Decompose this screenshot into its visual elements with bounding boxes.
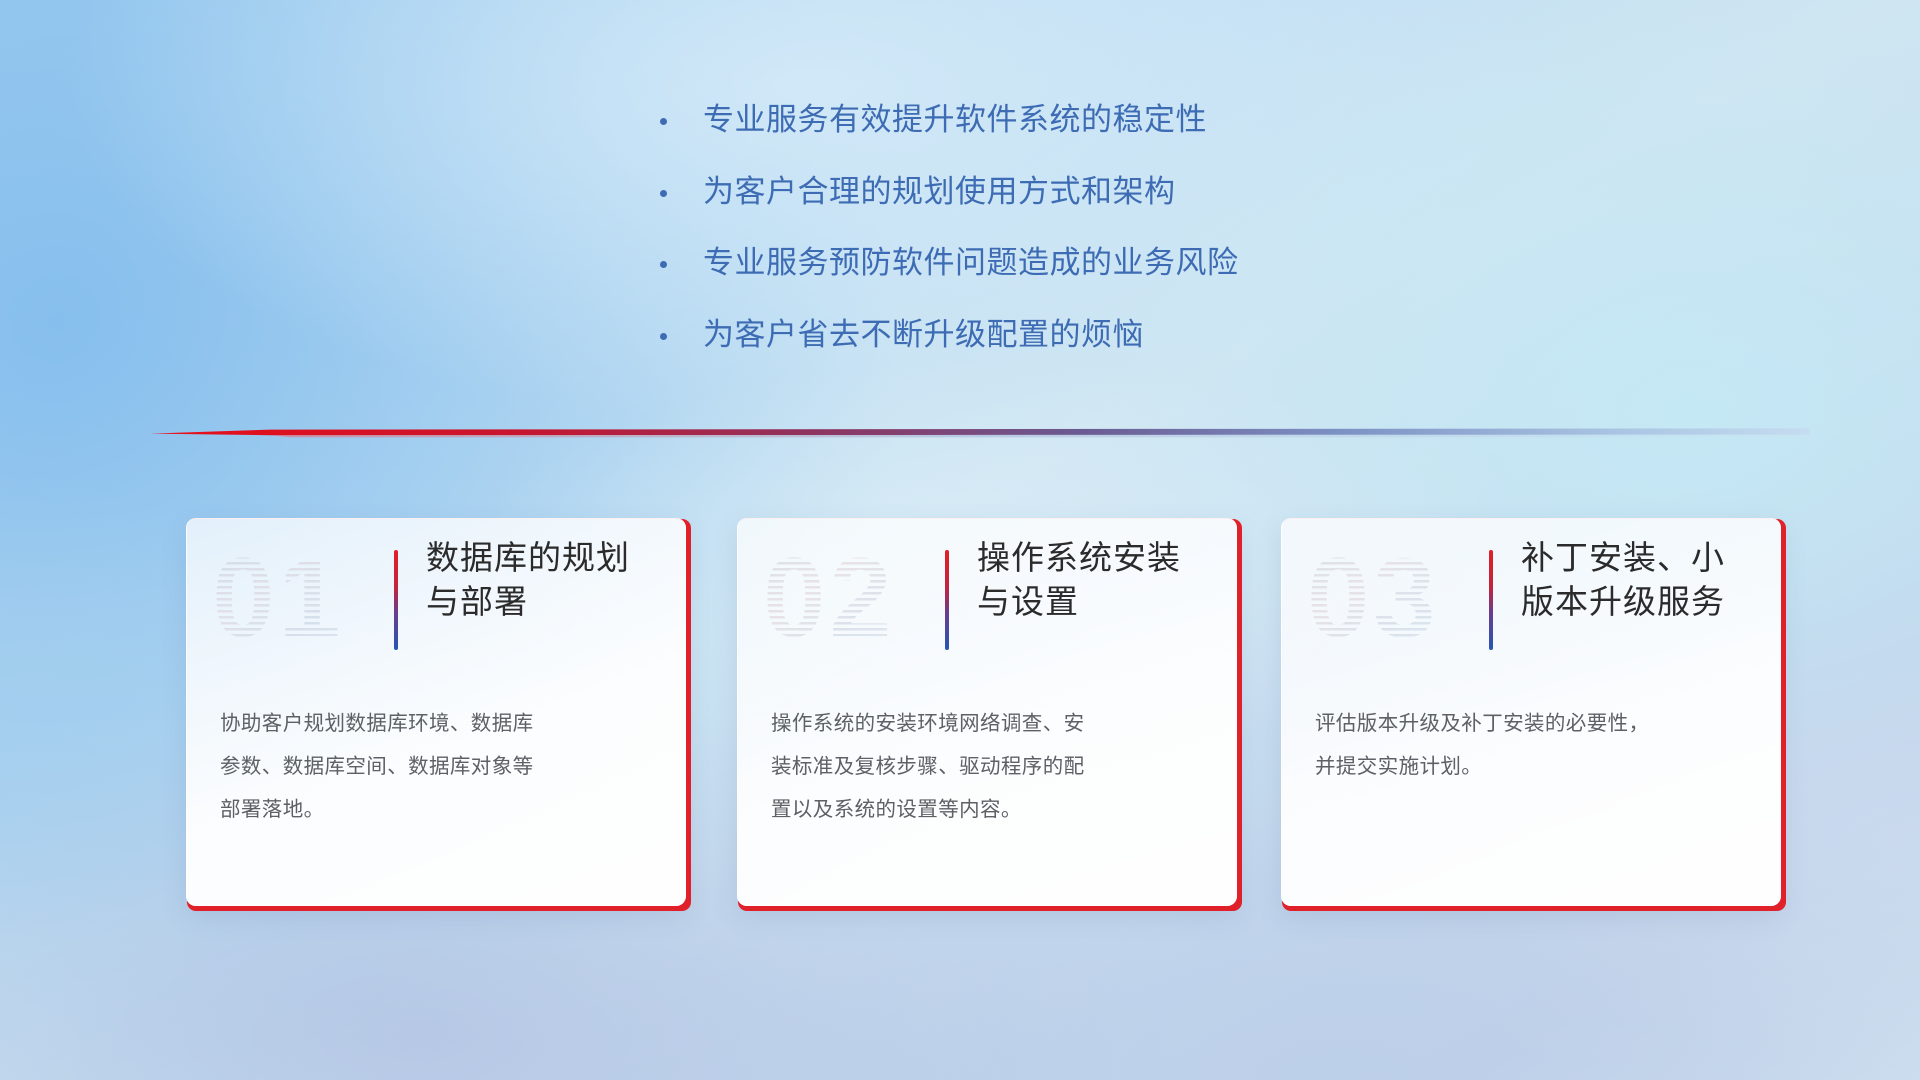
card-title-line-1: 补丁安装、小 xyxy=(1521,536,1757,580)
card-description-line-1: 协助客户规划数据库环境、数据库 xyxy=(220,702,658,745)
card-accent-rule xyxy=(394,550,398,650)
section-divider xyxy=(150,420,1810,446)
list-item: 专业服务有效提升软件系统的稳定性 xyxy=(660,100,1520,140)
service-card[interactable]: 03 补丁安装、小 版本升级服务 xyxy=(1281,518,1781,906)
card-title-line-2: 与设置 xyxy=(977,580,1213,624)
card-number-watermark: 01 xyxy=(210,544,370,656)
card-title: 操作系统安装 与设置 xyxy=(977,536,1213,623)
list-item: 为客户合理的规划使用方式和架构 xyxy=(660,172,1520,212)
bullet-dot-icon xyxy=(660,118,667,125)
service-card[interactable]: 01 数据库的规划 与部署 xyxy=(186,518,686,906)
card-title-line-2: 与部署 xyxy=(426,580,662,624)
card-header: 02 操作系统安装 与设置 xyxy=(737,518,1237,678)
card-accent-rule xyxy=(1489,550,1493,650)
card-description-line-2: 参数、数据库空间、数据库对象等 xyxy=(220,745,658,788)
card-description: 协助客户规划数据库环境、数据库 参数、数据库空间、数据库对象等 部署落地。 xyxy=(220,702,658,831)
bullet-text: 为客户省去不断升级配置的烦恼 xyxy=(703,315,1144,355)
bullet-dot-icon xyxy=(660,333,667,340)
card-title-line-1: 操作系统安装 xyxy=(977,536,1213,580)
card-header: 01 数据库的规划 与部署 xyxy=(186,518,686,678)
list-item: 专业服务预防软件问题造成的业务风险 xyxy=(660,243,1520,283)
bullet-text: 专业服务预防软件问题造成的业务风险 xyxy=(703,243,1239,283)
card-header: 03 补丁安装、小 版本升级服务 xyxy=(1281,518,1781,678)
service-card[interactable]: 02 操作系统安装 与设置 xyxy=(737,518,1237,906)
card-description-line-3: 置以及系统的设置等内容。 xyxy=(771,788,1209,831)
card-description: 评估版本升级及补丁安装的必要性， 并提交实施计划。 xyxy=(1315,702,1753,788)
bullet-text: 为客户合理的规划使用方式和架构 xyxy=(703,172,1176,212)
card-description-line-3: 部署落地。 xyxy=(220,788,658,831)
card-description-line-2: 装标准及复核步骤、驱动程序的配 xyxy=(771,745,1209,788)
card-number-watermark: 02 xyxy=(761,544,921,656)
card-title-line-2: 版本升级服务 xyxy=(1521,580,1757,624)
bullet-dot-icon xyxy=(660,261,667,268)
card-description: 操作系统的安装环境网络调查、安 装标准及复核步骤、驱动程序的配 置以及系统的设置… xyxy=(771,702,1209,831)
bullet-text: 专业服务有效提升软件系统的稳定性 xyxy=(703,100,1207,140)
card-number-watermark: 03 xyxy=(1305,544,1465,656)
card-description-line-1: 评估版本升级及补丁安装的必要性， xyxy=(1315,702,1753,745)
card-description-line-1: 操作系统的安装环境网络调查、安 xyxy=(771,702,1209,745)
card-title: 数据库的规划 与部署 xyxy=(426,536,662,623)
service-cards-row: 01 数据库的规划 与部署 xyxy=(0,518,1920,938)
card-accent-rule xyxy=(945,550,949,650)
bullet-dot-icon xyxy=(660,190,667,197)
card-title: 补丁安装、小 版本升级服务 xyxy=(1521,536,1757,623)
list-item: 为客户省去不断升级配置的烦恼 xyxy=(660,315,1520,355)
card-description-line-2: 并提交实施计划。 xyxy=(1315,745,1753,788)
card-title-line-1: 数据库的规划 xyxy=(426,536,662,580)
benefits-bullet-list: 专业服务有效提升软件系统的稳定性 为客户合理的规划使用方式和架构 专业服务预防软… xyxy=(660,100,1520,355)
